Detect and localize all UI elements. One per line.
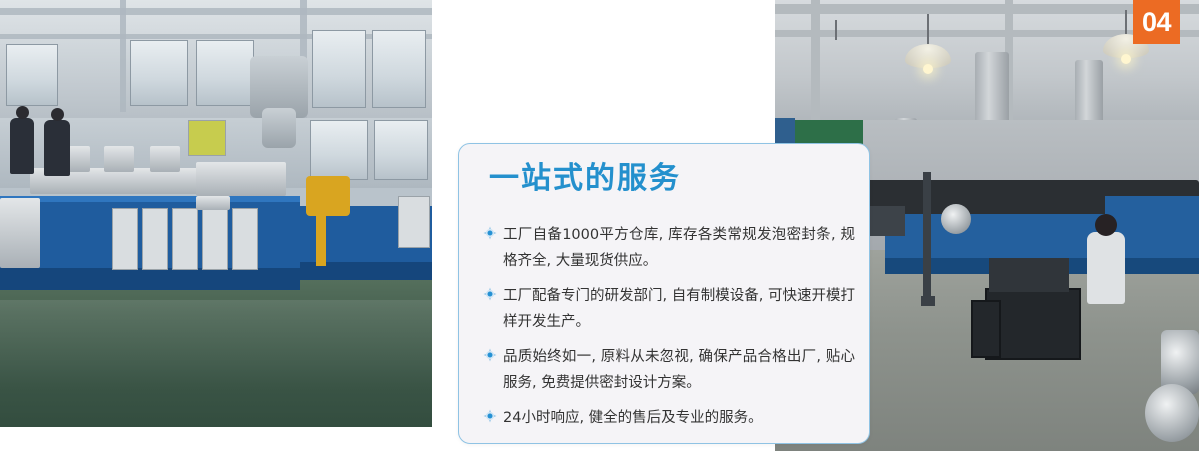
machine-part <box>196 196 230 210</box>
window <box>130 40 188 106</box>
blue-diamond-bullet-icon <box>483 287 497 301</box>
pole-base <box>921 296 935 306</box>
window <box>196 40 254 106</box>
lamp-cord <box>1125 10 1127 36</box>
floor-reflection <box>0 300 432 390</box>
air-duct <box>262 108 296 148</box>
metal-coil <box>1145 384 1199 442</box>
list-item: 工厂配备专门的研发部门, 自有制模设备, 可快速开模打样开发生产。 <box>483 283 855 335</box>
section-number-badge: 04 <box>1133 0 1180 44</box>
ceiling-column <box>811 0 820 132</box>
worker-head <box>1095 214 1117 236</box>
blue-diamond-bullet-icon <box>483 348 497 362</box>
window <box>372 30 426 108</box>
hopper <box>104 146 134 172</box>
lamp-bulb <box>923 64 933 74</box>
control-panel <box>172 208 198 270</box>
support-pole <box>923 172 931 304</box>
list-item: 工厂自备1000平方仓库, 库存各类常规发泡密封条, 规格齐全, 大量现货供应。 <box>483 222 855 274</box>
worker-head <box>51 108 64 121</box>
list-item-text: 品质始终如一, 原料从未忽视, 确保产品合格出厂, 贴心服务, 免费提供密封设计… <box>503 344 855 396</box>
metal-spool <box>941 204 971 234</box>
production-machine <box>1105 196 1199 224</box>
storage-crate <box>971 300 1001 358</box>
window <box>374 120 428 180</box>
blue-diamond-bullet-icon <box>483 226 497 240</box>
list-item: 品质始终如一, 原料从未忽视, 确保产品合格出厂, 贴心服务, 免费提供密封设计… <box>483 344 855 396</box>
control-panel <box>112 208 138 270</box>
worker-head <box>16 106 29 119</box>
service-info-card: 一站式的服务 工厂自备1000平方仓库, 库存各类常规发泡密封条, 规格齐全, … <box>458 143 870 444</box>
service-bullet-list: 工厂自备1000平方仓库, 库存各类常规发泡密封条, 规格齐全, 大量现货供应。… <box>483 222 855 440</box>
stacked-goods <box>989 258 1069 292</box>
list-item-text: 工厂自备1000平方仓库, 库存各类常规发泡密封条, 规格齐全, 大量现货供应。 <box>503 222 855 274</box>
lamp-cord <box>835 20 837 40</box>
window <box>310 120 368 180</box>
window <box>312 30 366 108</box>
card-title: 一站式的服务 <box>489 164 681 194</box>
lamp-cord <box>927 14 929 46</box>
ceiling-beam <box>0 8 432 15</box>
yellow-equipment <box>306 176 350 216</box>
control-panel <box>232 208 258 270</box>
worker-figure <box>10 118 34 174</box>
section-number-text: 04 <box>1142 9 1171 36</box>
list-item: 24小时响应, 健全的售后及专业的服务。 <box>483 405 855 431</box>
machine-top-edge <box>0 196 300 202</box>
extruder-barrel <box>196 162 286 196</box>
blue-diamond-bullet-icon <box>483 409 497 423</box>
control-panel <box>398 196 430 248</box>
machine-base <box>0 268 300 290</box>
ceiling-column <box>120 0 126 112</box>
lamp-bulb <box>1121 54 1131 64</box>
window <box>6 44 58 106</box>
worker-figure <box>1087 232 1125 304</box>
list-item-text: 24小时响应, 健全的售后及专业的服务。 <box>503 405 855 431</box>
worker-figure <box>44 120 70 176</box>
control-panel <box>202 208 228 270</box>
yellow-post <box>316 214 326 266</box>
list-item-text: 工厂配备专门的研发部门, 自有制模设备, 可快速开模打样开发生产。 <box>503 283 855 335</box>
control-panel <box>142 208 168 270</box>
ceiling-beam <box>0 34 432 39</box>
service-banner: 04 一站式的服务 工厂自备1000平方仓库, 库存各类常规发泡密封条, 规格齐… <box>0 0 1199 451</box>
machine-housing <box>0 198 40 268</box>
factory-photo-left <box>0 0 432 427</box>
hopper <box>150 146 180 172</box>
indicator-box <box>188 120 226 156</box>
